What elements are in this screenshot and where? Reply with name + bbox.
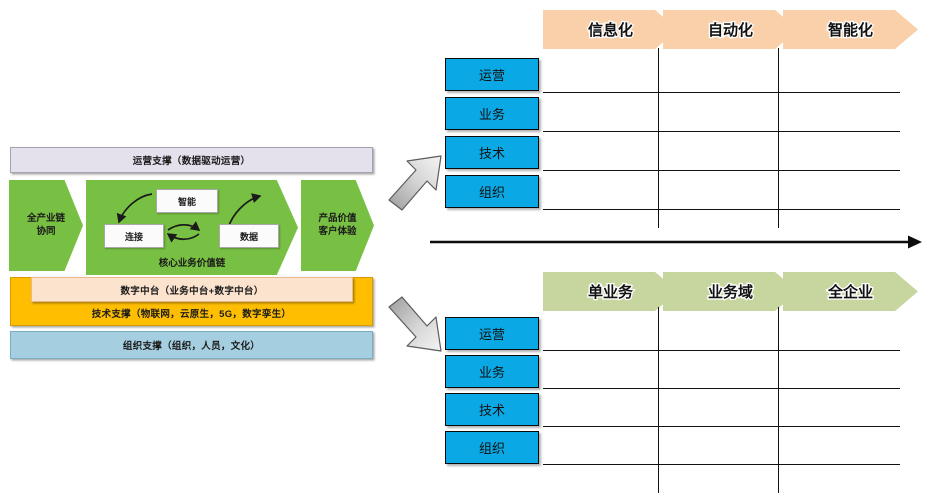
stage-chevron-1[interactable]: 自动化 自动化 (663, 10, 798, 49)
stage-chevron-2-label: 智能化 (828, 19, 873, 40)
row-label-0-text: 运营 (479, 65, 505, 84)
maturity-framework-diagram: 运营支撑（数据驱动运营） 全产业链 协同 核心业务价值链 产品价值 客户体验 智… (0, 0, 400, 493)
product-value-label-line2: 客户体验 (318, 226, 356, 239)
row-label-2-text: 技术 (479, 143, 505, 162)
grid-hline-1 (543, 131, 900, 132)
technology-support-label: 技术支撑（物联网，云原生，5G，数字孪生） (92, 306, 291, 320)
grid-hline-b1 (543, 388, 900, 389)
row-label-b3[interactable]: 组织 (445, 431, 539, 464)
operations-support-label: 运营支撑（数据驱动运营） (133, 153, 251, 167)
product-value-label-line1: 产品价值 (318, 213, 356, 226)
stage-chevron-2[interactable]: 智能化 智能化 (783, 10, 918, 49)
grid-hline-0 (543, 92, 900, 93)
row-label-1-text: 业务 (479, 104, 505, 123)
scope-chevron-2[interactable]: 全企业 全企业 (783, 272, 918, 311)
digital-midplatform-bar: 数字中台（业务中台+数字中台） (31, 277, 353, 302)
connect-node: 连接 (104, 224, 164, 248)
stage-chevron-0[interactable]: 信息化 信息化 (543, 10, 678, 49)
maturity-matrix-bottom: 单业务 单业务 业务域 业务域 全企业 全企业 运营 业务 技术 组织 (425, 262, 925, 493)
scope-chevron-0[interactable]: 单业务 单业务 (543, 272, 678, 311)
industry-chain-label-line2: 协同 (27, 226, 65, 239)
row-label-0[interactable]: 运营 (445, 58, 539, 91)
row-label-b1-text: 业务 (479, 362, 505, 381)
row-label-b2-text: 技术 (479, 400, 505, 419)
grid-hline-3 (543, 209, 900, 210)
grid-vline-b1 (778, 307, 779, 493)
grid-hline-b2 (543, 426, 900, 427)
row-label-b1[interactable]: 业务 (445, 355, 539, 388)
row-label-3[interactable]: 组织 (445, 175, 539, 208)
organization-support-bar: 组织支撑（组织，人员，文化） (10, 331, 373, 359)
scope-chevron-1[interactable]: 业务域 业务域 (663, 272, 798, 311)
digital-midplatform-label: 数字中台（业务中台+数字中台） (120, 283, 263, 297)
maturity-matrix-top: 信息化 信息化 自动化 自动化 智能化 智能化 运营 业务 技术 组织 (425, 0, 925, 228)
scope-chevron-0-label: 单业务 (588, 281, 633, 302)
grid-hline-2 (543, 170, 900, 171)
intelligence-node: 智能 (156, 189, 218, 213)
industry-chain-label-line1: 全产业链 (27, 213, 65, 226)
row-label-b3-text: 组织 (479, 438, 505, 457)
row-label-b0[interactable]: 运营 (445, 317, 539, 350)
scope-chevron-2-label: 全企业 (828, 281, 873, 302)
grid-vline-b0 (658, 307, 659, 493)
stage-chevron-0-label: 信息化 (588, 19, 633, 40)
operations-support-bar: 运营支撑（数据驱动运营） (10, 147, 373, 173)
row-label-1[interactable]: 业务 (445, 97, 539, 130)
row-label-3-text: 组织 (479, 182, 505, 201)
row-label-2[interactable]: 技术 (445, 136, 539, 169)
connect-node-label: 连接 (125, 230, 143, 243)
stage-chevron-1-label: 自动化 (708, 19, 753, 40)
industry-chain-chevron: 全产业链 协同 (9, 180, 83, 271)
timeline-axis-arrow (430, 234, 923, 250)
intelligence-node-label: 智能 (178, 195, 196, 208)
scope-chevron-1-label: 业务域 (708, 281, 753, 302)
organization-support-label: 组织支撑（组织，人员，文化） (123, 338, 260, 352)
grid-hline-b0 (543, 350, 900, 351)
data-node-label: 数据 (240, 230, 258, 243)
data-node: 数据 (219, 224, 279, 248)
product-value-chevron: 产品价值 客户体验 (301, 180, 374, 271)
grid-vline-0 (658, 48, 659, 228)
grid-vline-1 (778, 48, 779, 228)
row-label-b0-text: 运营 (479, 324, 505, 343)
grid-hline-b3 (543, 464, 900, 465)
row-label-b2[interactable]: 技术 (445, 393, 539, 426)
